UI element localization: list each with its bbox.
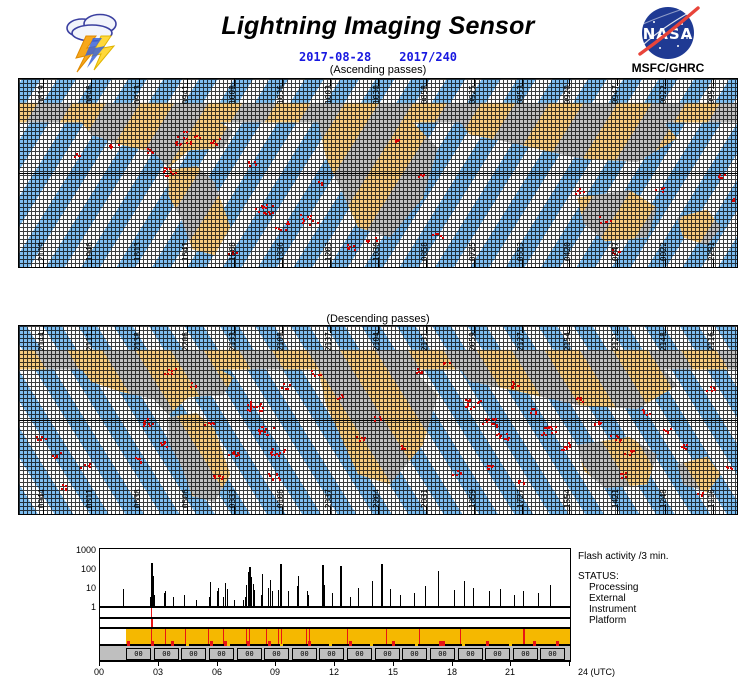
pass-time-label: 1030 [373,85,381,104]
flash-marker [175,368,177,370]
flash-marker [161,444,163,446]
flash-marker [272,448,274,450]
flash-marker [279,452,281,454]
activity-bar [350,597,351,606]
flash-marker [309,218,311,220]
flash-marker [219,138,221,140]
flash-marker [633,450,635,452]
status-segment [347,629,348,644]
pass-time-label: 1727 [517,489,525,508]
activity-y-tick-label: 1000 [76,545,96,555]
map-ascending-passes[interactable]: 0819084609130941100810361003103008580925… [18,78,738,268]
flash-marker [683,447,685,449]
flash-marker [54,457,56,459]
platform-orbit-box: 00 [458,648,483,660]
flash-marker [404,448,406,450]
flash-marker [312,373,314,375]
flash-marker [496,434,498,436]
flash-marker [460,472,462,474]
flash-marker [486,421,488,423]
flash-marker [167,373,169,375]
flash-marker [488,419,490,421]
flash-marker [374,416,376,418]
flash-marker [380,418,382,420]
activity-bar [473,588,474,606]
status-segment [185,629,186,644]
flash-marker [583,191,585,193]
platform-orbit-box: 00 [485,648,510,660]
flash-marker [269,475,271,477]
activity-bar [523,591,524,606]
time-tick [158,661,159,666]
flash-marker [492,418,494,420]
flash-marker [235,455,237,457]
activity-bar [246,585,247,606]
status-segment [278,629,279,644]
instrument-ok-fill [126,629,570,644]
pass-time-label: 2204 [373,489,381,508]
flash-marker [37,439,39,441]
pass-time-label: 2133 [229,332,237,351]
pass-time-label: 1813 [134,242,142,261]
flash-marker [437,233,439,235]
platform-event-tick [349,641,352,646]
flash-marker [320,374,322,376]
flash-marker [706,390,708,392]
platform-event-tick [556,641,559,646]
flash-marker [278,228,280,230]
flash-marker [186,138,188,140]
flash-marker [732,200,734,202]
platform-orbit-box: 00 [237,648,262,660]
flash-marker [714,389,716,391]
flash-marker [152,152,154,154]
activity-bar [454,590,455,606]
flash-marker [255,164,257,166]
platform-event-tick [210,641,213,646]
flash-marker [487,465,489,467]
flash-marker [144,420,146,422]
flash-marker [166,446,168,448]
activity-bar [210,582,211,606]
flash-marker [214,477,216,479]
status-segment [460,629,461,644]
pass-time-label: 1946 [86,242,94,261]
flash-marker [210,423,212,425]
flash-marker [533,408,535,410]
flash-marker [576,398,578,400]
flash-marker [163,171,165,173]
platform-orbit-box: 00 [319,648,344,660]
flash-marker [275,227,277,229]
flash-marker [575,193,577,195]
activity-bar [538,593,539,606]
flash-marker [186,131,188,133]
flash-marker [314,375,316,377]
flash-marker [353,245,355,247]
pass-time-label: 2337 [325,489,333,508]
flash-marker [41,436,43,438]
pass-time-label: 0420 [564,242,572,261]
pass-time-label: 0922 [660,85,668,104]
pass-time-label: 1336 [277,242,285,261]
flash-marker [177,136,179,138]
flash-marker [551,428,553,430]
flash-marker [619,441,621,443]
flash-marker [278,455,280,457]
pass-time-label: 0553 [517,242,525,261]
activity-bar [298,576,299,606]
flash-marker [555,431,557,433]
legend-item-platform: Platform [589,615,753,626]
flash-marker [563,449,565,451]
flash-marker [467,400,469,402]
flash-marker [721,177,723,179]
flash-marker [175,172,177,174]
activity-bar [324,585,325,606]
flash-marker [456,474,458,476]
pass-time-label: 2138 [134,332,142,351]
platform-orbit-box: 00 [264,648,289,660]
flash-marker [140,462,142,464]
activity-bar [390,589,391,606]
flash-marker [61,488,63,490]
flash-marker [646,414,648,416]
flash-marker [171,370,173,372]
flash-marker [615,439,617,441]
flash-marker [221,478,223,480]
pass-time-label: 2131 [421,332,429,351]
flash-activity-chart[interactable] [99,548,571,607]
pass-time-label: 0858 [421,242,429,261]
activity-bar [425,586,426,606]
flash-marker [711,390,713,392]
flash-marker [354,249,356,251]
pass-time-label: 2144 [38,332,46,351]
flash-marker [179,144,181,146]
flash-marker [401,445,403,447]
platform-event-tick [268,641,271,646]
flash-marker [519,480,521,482]
pass-time-label: 0638 [134,489,142,508]
status-segment [151,608,152,617]
pass-time-label: 0108 [277,489,285,508]
flash-marker [143,425,145,427]
flash-marker [550,426,552,428]
flash-marker [265,213,267,215]
flash-marker [494,419,496,421]
flash-marker [724,174,726,176]
pass-time-label: 2059 [469,332,477,351]
activity-bar [400,595,401,606]
flash-marker [164,373,166,375]
flash-marker [266,434,268,436]
flash-marker [190,141,192,143]
flash-marker [250,408,252,410]
activity-bar [358,588,359,606]
platform-orbit-box: 00 [181,648,206,660]
legend-item-processing: Processing [589,582,753,593]
flash-marker [247,404,249,406]
descending-subtitle: (Descending passes) [0,313,756,325]
flash-marker [74,156,76,158]
flash-marker [506,433,508,435]
platform-event-tick [486,641,489,646]
flash-marker [452,474,454,476]
flash-marker [204,424,206,426]
status-segment [208,629,209,644]
legend-item-instrument: Instrument [589,604,753,615]
activity-bar [196,600,197,606]
flash-marker [176,141,178,143]
platform-event-tick [442,641,445,646]
status-row-instrument [99,628,571,645]
flash-marker [88,465,90,467]
pass-time-label: 2137 [325,332,333,351]
pass-time-label: 0947 [612,85,620,104]
pass-time-label: 1641 [182,242,190,261]
flash-marker [531,408,533,410]
pass-time-label: 2206 [182,332,190,351]
platform-event-tick [186,641,189,646]
flash-marker [624,453,626,455]
time-tick-label: 15 [388,667,398,677]
flash-marker [606,221,608,223]
flash-marker [190,143,192,145]
flash-marker [255,208,257,210]
activity-bar [500,589,501,606]
flash-marker [167,175,169,177]
flash-marker [449,362,451,364]
flash-activity-panel: 1000100101 00000000000000000000000000000… [0,545,756,680]
platform-event-tick [329,641,332,646]
lis-daily-summary-page: Lightning Imaging Sensor 2017-08-282017/… [0,0,756,680]
status-segment [223,629,224,644]
flash-marker [199,137,201,139]
time-tick-label: 18 [447,667,457,677]
flash-marker [397,140,399,142]
status-segment [386,629,387,644]
flash-marker [321,184,323,186]
pass-time-label: 0819 [38,85,46,104]
time-tick [393,661,394,666]
flash-marker [160,442,162,444]
flash-marker [480,400,482,402]
platform-event-tick [392,641,395,646]
flash-marker [361,437,363,439]
flash-marker [168,369,170,371]
flash-marker [545,434,547,436]
flash-marker [625,472,627,474]
flash-marker [261,410,263,412]
activity-bar [234,600,235,606]
flash-marker [284,449,286,451]
activity-bar [514,595,515,606]
status-segment [309,629,310,644]
activity-bar [489,591,490,606]
flash-marker [76,153,78,155]
flash-marker [530,412,532,414]
time-axis: 0003060912151821 [99,661,571,679]
flash-marker [80,467,82,469]
flash-marker [535,413,537,415]
flash-marker [300,214,302,216]
flash-marker [147,418,149,420]
map-descending-passes[interactable]: 2144211121382206213321082137210421312059… [18,325,738,515]
flash-marker [617,436,619,438]
legend-flash-activity: Flash activity /3 min. [578,551,753,562]
flash-marker [496,424,498,426]
pass-time-label: 1554 [564,489,572,508]
flash-marker [444,362,446,364]
pass-time-label: 1248 [660,489,668,508]
flash-marker [508,437,510,439]
flash-marker [261,426,263,428]
flash-marker [62,484,64,486]
status-segment [306,629,307,644]
flash-marker [470,408,472,410]
activity-bar [227,589,228,606]
status-segment [165,629,166,644]
flash-marker [599,423,601,425]
flash-marker [164,167,166,169]
flash-marker [625,476,627,478]
flash-marker [287,388,289,390]
flash-marker [45,438,47,440]
status-segment [523,629,525,644]
pass-time-label: 0247 [612,242,620,261]
utc-axis-label: 24 (UTC) [578,667,615,677]
pass-time-label: 1859 [469,489,477,508]
flash-marker [228,454,230,456]
flash-marker [621,477,623,479]
activity-bar [270,580,271,606]
flash-marker [111,146,113,148]
pass-time-label: 0951 [708,85,716,104]
flash-marker [60,452,62,454]
activity-y-tick-label: 10 [86,583,96,593]
time-tick [569,661,570,666]
time-tick-label: 09 [270,667,280,677]
flash-marker [266,204,268,206]
flash-marker [152,423,154,425]
flash-marker [310,215,312,217]
pass-time-label: 2121 [612,332,620,351]
activity-bar [225,583,226,606]
activity-bar [251,577,252,606]
activity-bar [438,571,439,606]
platform-event-tick [533,641,536,646]
flash-marker [718,176,720,178]
flash-marker [579,398,581,400]
pass-time-label: 1203 [325,242,333,261]
activity-bar [223,597,224,606]
flash-marker [249,165,251,167]
flash-marker [40,439,42,441]
agency-caption: MSFC/GHRC [600,61,736,75]
activity-bar [281,578,282,606]
status-legend: Flash activity /3 min. STATUS: Processin… [578,551,753,626]
flash-marker [186,142,188,144]
pass-time-label: 0506 [182,489,190,508]
flash-marker [165,175,167,177]
pass-time-label: 0944 [38,489,46,508]
flash-marker [341,394,343,396]
flash-marker [283,451,285,453]
flash-marker [139,458,141,460]
flash-marker [697,493,699,495]
flash-marker [467,405,469,407]
platform-orbit-box: 00 [209,648,234,660]
flash-marker [283,383,285,385]
time-tick [452,661,453,666]
flash-marker [523,483,525,485]
flash-marker [258,429,260,431]
flash-marker [273,427,275,429]
pass-time-label: 2104 [373,332,381,351]
flash-marker [56,456,58,458]
flash-marker [272,479,274,481]
activity-bar [243,600,244,606]
day-of-year: 2017/240 [399,50,457,64]
flash-marker [318,181,320,183]
flash-marker [683,444,685,446]
flash-marker [303,220,305,222]
flash-marker [599,216,601,218]
flash-marker [579,192,581,194]
flash-marker [473,406,475,408]
pass-time-label: 0913 [134,85,142,104]
flash-marker [610,435,612,437]
flash-marker [485,418,487,420]
flash-marker [176,144,178,146]
flash-marker [512,387,514,389]
flash-marker [218,475,220,477]
flash-marker [118,144,120,146]
activity-bar [268,588,269,606]
flash-marker [620,439,622,441]
activity-bar [173,597,174,606]
platform-event-tick [462,641,465,646]
activity-bar [414,593,415,606]
flash-marker [513,383,515,385]
platform-event-tick [171,641,174,646]
flash-marker [663,187,665,189]
flash-marker [359,440,361,442]
pass-time-label: 0333 [229,489,237,508]
flash-marker [164,442,166,444]
flash-marker [166,168,168,170]
flash-marker [364,437,366,439]
platform-event-tick [415,641,418,646]
flash-marker [701,494,703,496]
flash-marker [726,466,728,468]
time-tick-label: 21 [505,667,515,677]
activity-bar [272,591,273,606]
activity-bar [332,593,333,606]
flash-marker [555,426,557,428]
time-tick-label: 12 [329,667,339,677]
pass-time-label: 0925 [469,85,477,104]
flash-marker [582,401,584,403]
legend-item-external: External [589,593,753,604]
flash-marker [254,161,256,163]
pass-time-label: 0811 [86,489,94,508]
flash-marker [569,446,571,448]
flash-marker [544,427,546,429]
status-segment [281,629,282,644]
flash-marker [196,135,198,137]
